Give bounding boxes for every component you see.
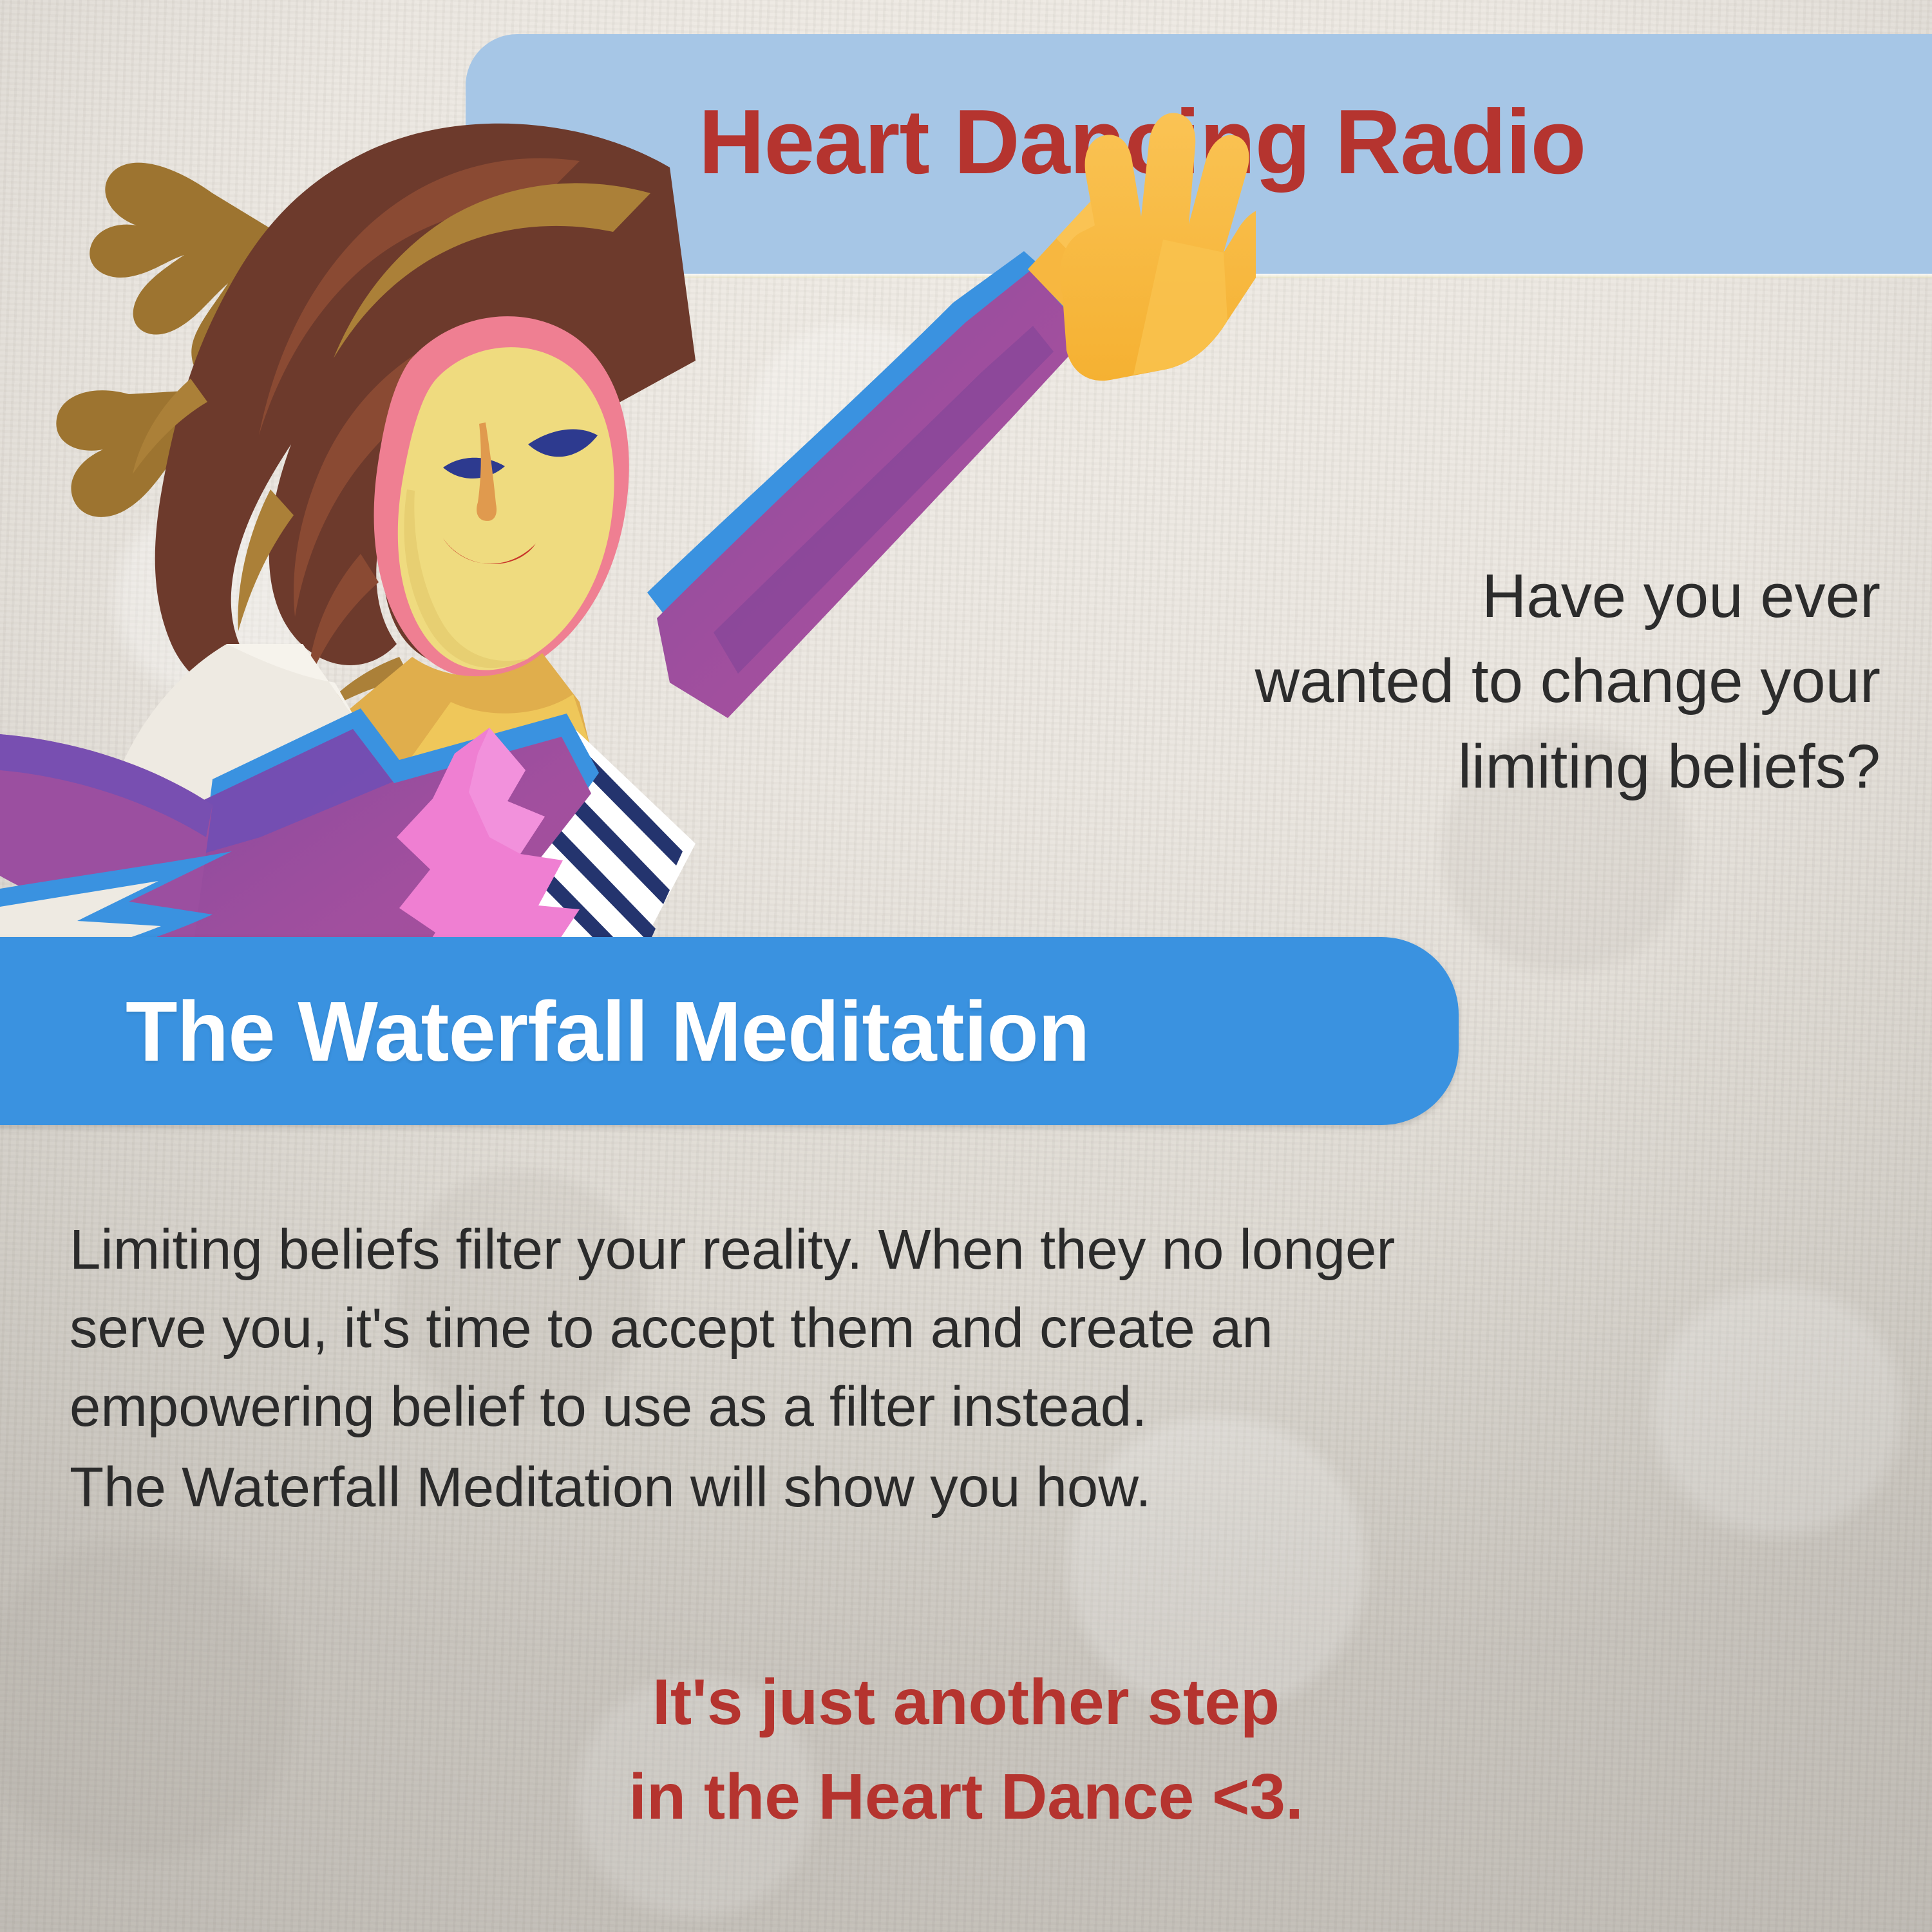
- hero-question: Have you ever wanted to change your limi…: [1005, 554, 1880, 810]
- poster-canvas: Heart Dancing Radio: [0, 0, 1932, 1932]
- brand-title-banner: Heart Dancing Radio: [466, 34, 1932, 274]
- closing-copy: It's just another step in the Heart Danc…: [0, 1655, 1932, 1844]
- brand-banner-underline: [466, 274, 1932, 278]
- closing-line-1: It's just another step: [0, 1655, 1932, 1750]
- brand-title: Heart Dancing Radio: [699, 97, 1586, 188]
- hero-question-line-2: wanted to change your: [1005, 639, 1880, 724]
- body-copy: Limiting beliefs filter your reality. Wh…: [70, 1211, 1879, 1527]
- body-line-2: serve you, it's time to accept them and …: [70, 1289, 1879, 1368]
- hero-question-line-3: limiting beliefs?: [1005, 724, 1880, 810]
- closing-line-2: in the Heart Dance <3.: [0, 1750, 1932, 1844]
- hero-question-line-1: Have you ever: [1005, 554, 1880, 639]
- subtitle-banner: The Waterfall Meditation: [0, 937, 1459, 1125]
- body-line-4: The Waterfall Meditation will show you h…: [70, 1448, 1879, 1527]
- subtitle-text: The Waterfall Meditation: [126, 983, 1090, 1080]
- body-line-3: empowering belief to use as a filter ins…: [70, 1368, 1879, 1446]
- body-line-1: Limiting beliefs filter your reality. Wh…: [70, 1211, 1879, 1289]
